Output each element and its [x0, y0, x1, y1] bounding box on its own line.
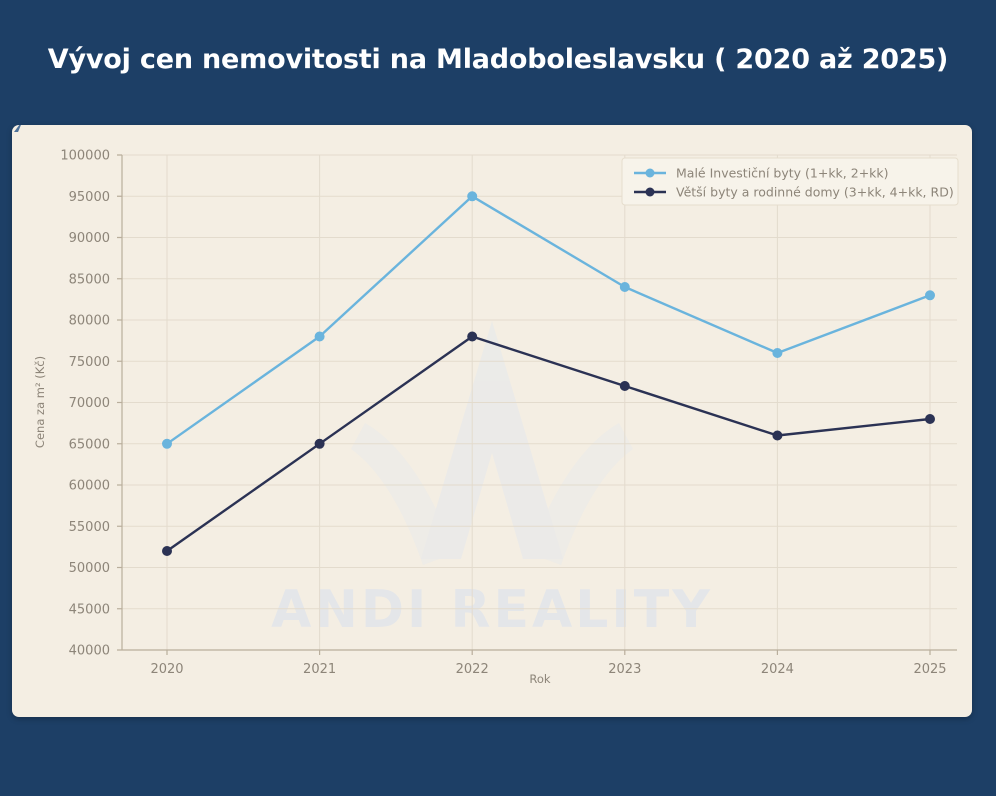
data-point[interactable]: [467, 191, 477, 201]
y-tick-label: 50000: [69, 561, 110, 576]
chart-legend: Malé Investiční byty (1+kk, 2+kk) Větší …: [622, 158, 958, 205]
y-tick-label: 80000: [69, 314, 110, 329]
data-point[interactable]: [620, 381, 630, 391]
legend-label: Větší byty a rodinné domy (3+kk, 4+kk, R…: [676, 185, 954, 200]
legend-marker-swatch: [646, 169, 655, 178]
y-tick-label: 95000: [69, 190, 110, 205]
y-axis-title: Cena za m² (Kč): [33, 356, 47, 448]
data-point[interactable]: [772, 348, 782, 358]
x-tick-label: 2024: [761, 662, 794, 677]
legend-label: Malé Investiční byty (1+kk, 2+kk): [676, 166, 889, 181]
legend-marker-swatch: [646, 188, 655, 197]
data-point[interactable]: [925, 290, 935, 300]
x-tick-label: 2022: [456, 662, 489, 677]
x-tick-label: 2025: [913, 662, 946, 677]
grid-lines: [122, 155, 957, 650]
data-point[interactable]: [925, 414, 935, 424]
data-point[interactable]: [772, 431, 782, 441]
x-tick-label: 2020: [150, 662, 183, 677]
y-tick-label: 90000: [69, 231, 110, 246]
x-tick-label: 2021: [303, 662, 336, 677]
x-tick-label: 2023: [608, 662, 641, 677]
y-tick-label: 45000: [69, 602, 110, 617]
chart-card: ANDI REALITY 400004500050000550006000065…: [12, 125, 972, 717]
y-tick-label: 85000: [69, 272, 110, 287]
x-axis-title: Rok: [529, 672, 551, 686]
series-layer: [162, 191, 935, 556]
line-chart: 4000045000500005500060000650007000075000…: [12, 125, 972, 717]
data-point[interactable]: [315, 332, 325, 342]
data-point[interactable]: [467, 332, 477, 342]
data-point[interactable]: [620, 282, 630, 292]
y-axis-ticks: 4000045000500005500060000650007000075000…: [60, 149, 122, 659]
data-point[interactable]: [162, 439, 172, 449]
y-tick-label: 55000: [69, 520, 110, 535]
legend-item-1[interactable]: Větší byty a rodinné domy (3+kk, 4+kk, R…: [634, 185, 954, 200]
y-tick-label: 60000: [69, 479, 110, 494]
plot-area: 4000045000500005500060000650007000075000…: [12, 125, 972, 717]
y-tick-label: 65000: [69, 437, 110, 452]
y-tick-label: 100000: [60, 149, 110, 164]
y-tick-label: 75000: [69, 355, 110, 370]
data-point[interactable]: [315, 439, 325, 449]
page-title: Vývoj cen nemovitosti na Mladoboleslavsk…: [0, 44, 996, 75]
data-point[interactable]: [162, 546, 172, 556]
y-tick-label: 70000: [69, 396, 110, 411]
y-tick-label: 40000: [69, 644, 110, 659]
